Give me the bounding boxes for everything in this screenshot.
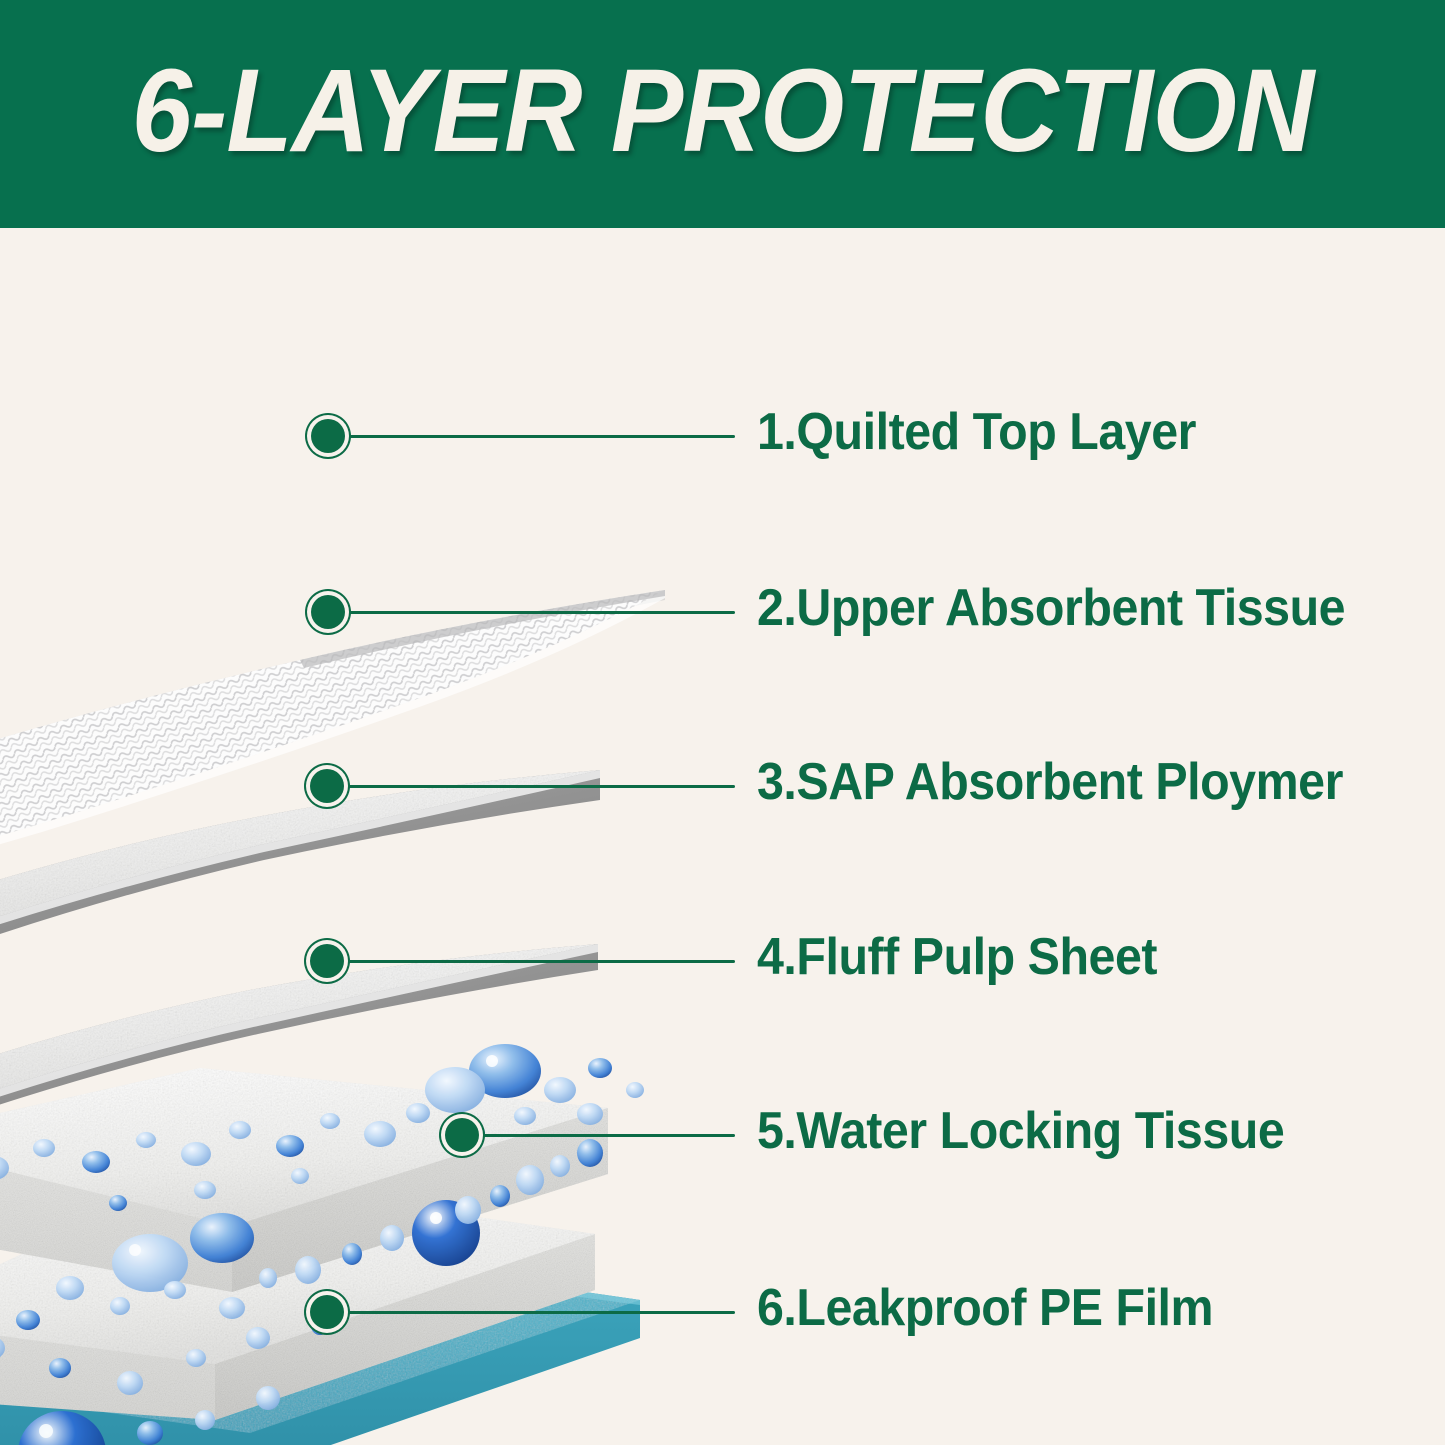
layer-label-2: 2.Upper Absorbent Tissue	[757, 582, 1345, 634]
leader-line-6	[327, 1311, 735, 1314]
callout-dot-6[interactable]	[310, 1295, 344, 1329]
callout-dot-1[interactable]	[311, 419, 345, 453]
header-banner: 6-LAYER PROTECTION	[0, 0, 1445, 228]
layer-label-4: 4.Fluff Pulp Sheet	[757, 931, 1157, 983]
callout-dot-3[interactable]	[310, 769, 344, 803]
callout-dot-2[interactable]	[311, 595, 345, 629]
leader-line-2	[328, 611, 735, 614]
page-title: 6-LAYER PROTECTION	[58, 0, 1387, 228]
layer-diagram: 1.Quilted Top Layer 2.Upper Absorbent Ti…	[0, 228, 1445, 1445]
leader-line-1	[328, 435, 735, 438]
exploded-layer-illustration	[0, 228, 1445, 1445]
layer-label-5: 5.Water Locking Tissue	[757, 1105, 1284, 1157]
leader-line-4	[327, 960, 735, 963]
leader-line-3	[327, 785, 735, 788]
layer-label-1: 1.Quilted Top Layer	[757, 406, 1196, 458]
leader-line-5	[462, 1134, 735, 1137]
callout-dot-5[interactable]	[445, 1118, 479, 1152]
callout-dot-4[interactable]	[310, 944, 344, 978]
layer-label-6: 6.Leakproof PE Film	[757, 1282, 1213, 1334]
layer-label-3: 3.SAP Absorbent Ploymer	[757, 756, 1343, 808]
